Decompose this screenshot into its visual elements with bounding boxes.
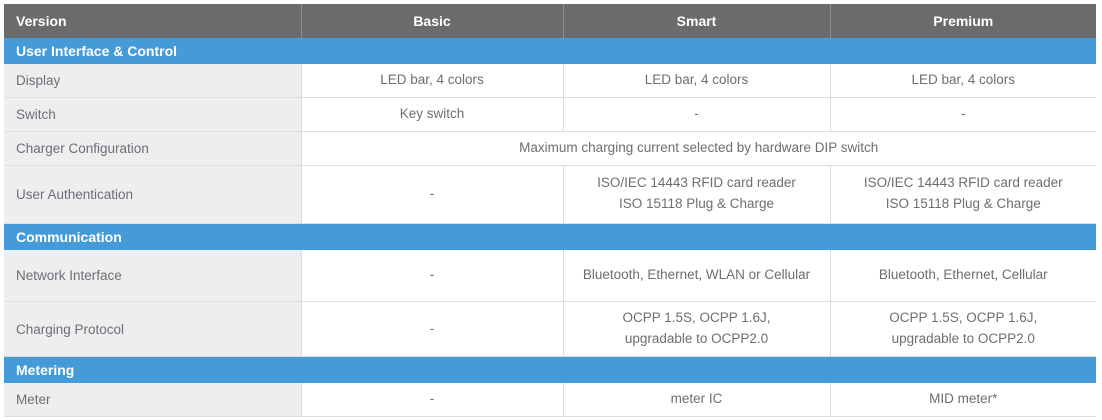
table-row-charging-protocol: Charging Protocol - OCPP 1.5S, OCPP 1.6J… — [4, 302, 1096, 357]
value-charging-protocol-premium-line-2: upgradable to OCPP2.0 — [841, 329, 1087, 350]
table-row-network-interface: Network Interface - Bluetooth, Ethernet,… — [4, 250, 1096, 302]
value-meter-premium: MID meter* — [830, 383, 1096, 416]
section-header-metering: Metering — [4, 357, 1096, 384]
value-network-interface-premium: Bluetooth, Ethernet, Cellular — [830, 250, 1096, 302]
value-display-premium: LED bar, 4 colors — [830, 64, 1096, 97]
value-user-authentication-premium: ISO/IEC 14443 RFID card reader ISO 15118… — [830, 165, 1096, 223]
value-display-smart: LED bar, 4 colors — [563, 64, 830, 97]
feature-label-charging-protocol: Charging Protocol — [4, 302, 301, 357]
value-meter-smart: meter IC — [563, 383, 830, 416]
value-user-authentication-basic: - — [301, 165, 563, 223]
value-display-basic: LED bar, 4 colors — [301, 64, 563, 97]
column-header-version: Version — [4, 4, 301, 38]
table-row-user-authentication: User Authentication - ISO/IEC 14443 RFID… — [4, 165, 1096, 223]
feature-label-user-authentication: User Authentication — [4, 165, 301, 223]
feature-label-charger-configuration: Charger Configuration — [4, 131, 301, 165]
feature-label-switch: Switch — [4, 97, 301, 131]
value-charging-protocol-premium: OCPP 1.5S, OCPP 1.6J, upgradable to OCPP… — [830, 302, 1096, 357]
specification-table-container: Version Basic Smart Premium User Interfa… — [4, 4, 1096, 417]
value-switch-premium: - — [830, 97, 1096, 131]
feature-label-display: Display — [4, 64, 301, 97]
value-charging-protocol-premium-line-1: OCPP 1.5S, OCPP 1.6J, — [841, 308, 1087, 329]
value-charging-protocol-smart: OCPP 1.5S, OCPP 1.6J, upgradable to OCPP… — [563, 302, 830, 357]
version-comparison-table: Version Basic Smart Premium User Interfa… — [4, 4, 1096, 417]
section-title: Communication — [4, 223, 1096, 250]
value-network-interface-basic: - — [301, 250, 563, 302]
value-switch-smart: - — [563, 97, 830, 131]
value-charger-configuration-all: Maximum charging current selected by har… — [301, 131, 1096, 165]
column-header-premium: Premium — [830, 4, 1096, 38]
table-row-meter: Meter - meter IC MID meter* — [4, 383, 1096, 416]
column-header-smart: Smart — [563, 4, 830, 38]
feature-label-meter: Meter — [4, 383, 301, 416]
value-network-interface-smart: Bluetooth, Ethernet, WLAN or Cellular — [563, 250, 830, 302]
table-row-charger-configuration: Charger Configuration Maximum charging c… — [4, 131, 1096, 165]
column-header-basic: Basic — [301, 4, 563, 38]
table-header-row: Version Basic Smart Premium — [4, 4, 1096, 38]
value-charging-protocol-smart-line-1: OCPP 1.5S, OCPP 1.6J, — [574, 308, 820, 329]
value-user-authentication-smart-line-1: ISO/IEC 14443 RFID card reader — [574, 173, 820, 194]
value-charging-protocol-smart-line-2: upgradable to OCPP2.0 — [574, 329, 820, 350]
table-row-switch: Switch Key switch - - — [4, 97, 1096, 131]
value-charging-protocol-basic: - — [301, 302, 563, 357]
section-header-user-interface-control: User Interface & Control — [4, 38, 1096, 64]
table-row-display: Display LED bar, 4 colors LED bar, 4 col… — [4, 64, 1096, 97]
value-switch-basic: Key switch — [301, 97, 563, 131]
section-header-communication: Communication — [4, 223, 1096, 250]
value-meter-basic: - — [301, 383, 563, 416]
value-user-authentication-smart: ISO/IEC 14443 RFID card reader ISO 15118… — [563, 165, 830, 223]
section-title: Metering — [4, 357, 1096, 384]
value-user-authentication-smart-line-2: ISO 15118 Plug & Charge — [574, 194, 820, 215]
section-title: User Interface & Control — [4, 38, 1096, 64]
value-user-authentication-premium-line-2: ISO 15118 Plug & Charge — [841, 194, 1087, 215]
feature-label-network-interface: Network Interface — [4, 250, 301, 302]
value-user-authentication-premium-line-1: ISO/IEC 14443 RFID card reader — [841, 173, 1087, 194]
